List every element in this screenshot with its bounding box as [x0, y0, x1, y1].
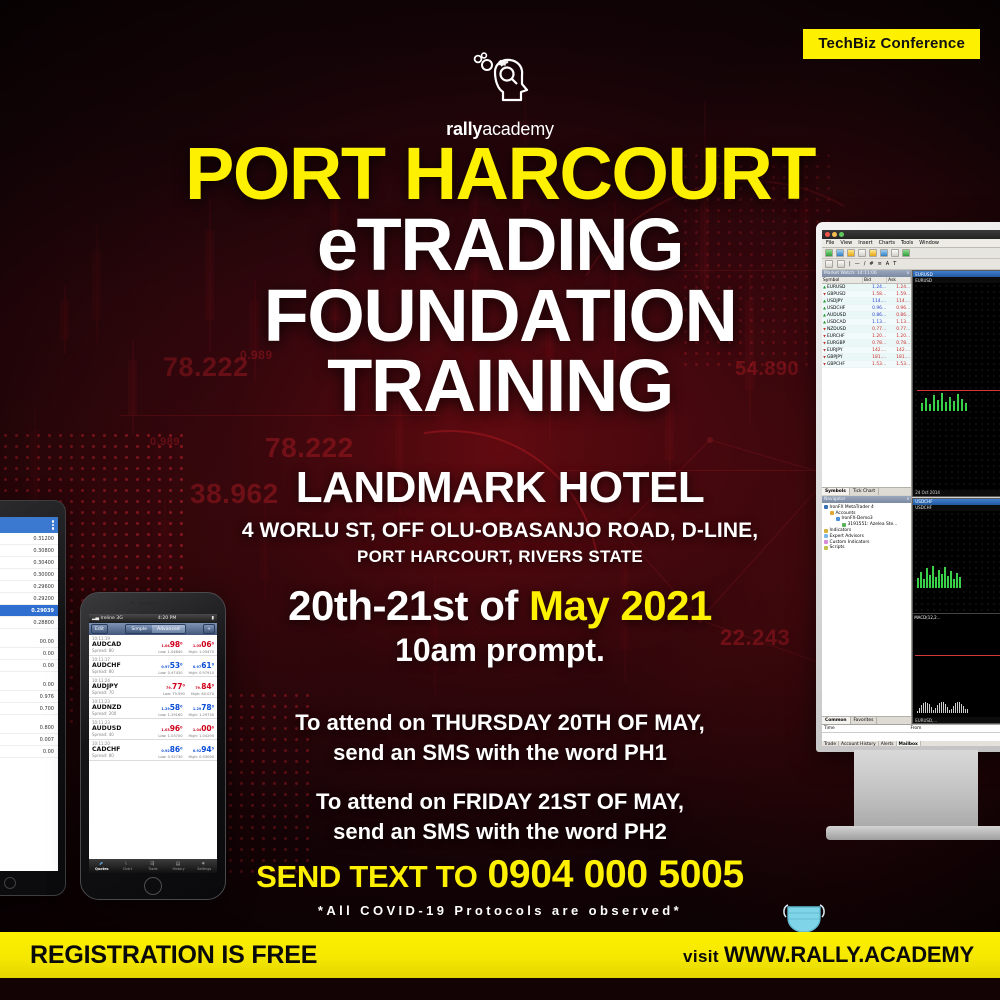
- headline-line-etrading: eTRADING: [0, 211, 1000, 280]
- quote-low: Low: 79.590: [163, 692, 185, 696]
- send-text-label: SEND TEXT TO: [256, 859, 477, 894]
- techbiz-conference-badge: TechBiz Conference: [803, 29, 980, 59]
- tablet-row[interactable]: 0.00: [0, 679, 58, 691]
- venue-address-line1: 4 WORLU ST, OFF OLU-OBASANJO ROAD, D-LIN…: [0, 519, 1000, 543]
- head-gears-logo-icon: [465, 52, 535, 114]
- sms-thursday-line2: send an SMS with the word PH1: [0, 738, 1000, 768]
- event-time: 10am prompt.: [0, 632, 1000, 669]
- event-date-block: 20th-21st of May 2021 10am prompt.: [0, 582, 1000, 669]
- tablet-row[interactable]: 0.976: [0, 691, 58, 703]
- spacer: [0, 672, 58, 679]
- sms-friday-line2: send an SMS with the word PH2: [0, 817, 1000, 847]
- sms-friday-line1: To attend on FRIDAY 21ST OF MAY,: [0, 787, 1000, 817]
- quote-low: Low: 0.97430: [158, 671, 182, 675]
- visit-label: visit: [683, 947, 719, 966]
- face-mask-icon: [782, 898, 826, 936]
- event-date-month-year: May 2021: [529, 582, 712, 629]
- quote-spread: Spread: 70: [92, 690, 118, 695]
- send-text-block: SEND TEXT TO0904 000 5005: [0, 853, 1000, 897]
- quote-symbol-block: AUDJPYSpread: 70: [92, 683, 118, 695]
- quote-bid-value: 79.770: [163, 683, 185, 691]
- footer-bar: REGISTRATION IS FREE visitWWW.RALLY.ACAD…: [0, 932, 1000, 978]
- quote-high: High: 80.070: [191, 692, 214, 696]
- quote-row[interactable]: 10:11:24AUDJPYSpread: 7079.770Low: 79.59…: [89, 677, 217, 698]
- headline-block: PORT HARCOURT eTRADING FOUNDATION TRAINI…: [0, 140, 1000, 421]
- website-url[interactable]: WWW.RALLY.ACADEMY: [724, 942, 974, 967]
- venue-name: LANDMARK HOTEL: [0, 463, 1000, 513]
- quote-main: AUDJPYSpread: 7079.770Low: 79.59079.840H…: [92, 683, 214, 696]
- headline-line-city: PORT HARCOURT: [0, 140, 1000, 209]
- quote-ask-value: 79.840: [191, 683, 214, 691]
- sms-thursday-line1: To attend on THURSDAY 20TH OF MAY,: [0, 708, 1000, 738]
- quote-symbol: AUDJPY: [92, 683, 118, 690]
- website-block: visitWWW.RALLY.ACADEMY: [683, 942, 974, 968]
- quote-high: High: 0.97910: [189, 671, 214, 675]
- event-date-days: 20th-21st of: [288, 582, 529, 629]
- venue-address-line2: PORT HARCOURT, RIVERS STATE: [0, 547, 1000, 567]
- venue-block: LANDMARK HOTEL 4 WORLU ST, OFF OLU-OBASA…: [0, 463, 1000, 567]
- quote-prices: 79.770Low: 79.59079.840High: 80.070: [163, 683, 214, 696]
- headline-line-training: TRAINING: [0, 352, 1000, 421]
- sms-instructions-block: To attend on THURSDAY 20TH OF MAY, send …: [0, 708, 1000, 847]
- quote-spread: Spread: 80: [92, 669, 121, 674]
- footer-dark-strip: [0, 978, 1000, 1000]
- headline-line-foundation: FOUNDATION: [0, 282, 1000, 351]
- spacer: [0, 768, 1000, 787]
- covid-protocol-note: *All COVID-19 Protocols are observed*: [0, 903, 1000, 918]
- send-text-number: 0904 000 5005: [488, 853, 744, 896]
- tablet-row[interactable]: 0.30000: [0, 569, 58, 581]
- quote-bid: 79.770Low: 79.590: [163, 683, 185, 696]
- registration-free-label: REGISTRATION IS FREE: [30, 941, 317, 970]
- brand-logo: rallyacademy: [0, 52, 1000, 140]
- quote-ask: 79.840High: 80.070: [191, 683, 214, 696]
- event-date: 20th-21st of May 2021: [0, 582, 1000, 630]
